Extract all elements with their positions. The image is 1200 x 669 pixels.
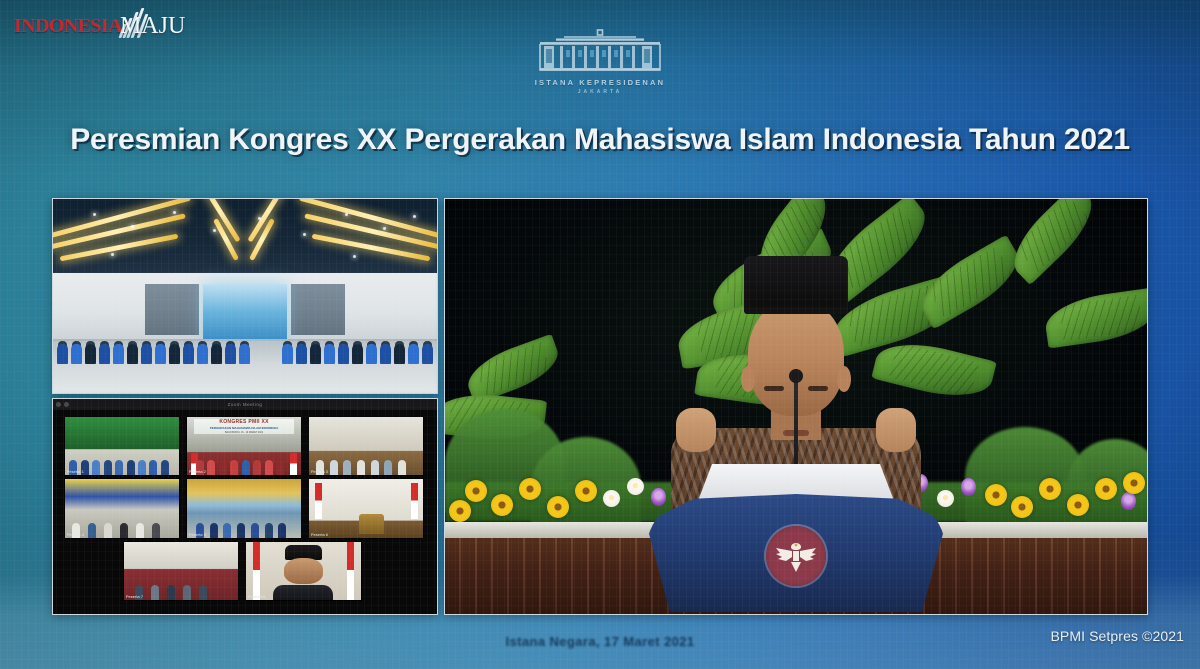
tile-label: Peserta 7 [126, 594, 143, 599]
banner-line-2: PERGERAKAN MAHASISWA ISLAM INDONESIA [210, 426, 278, 430]
tile-label: Peserta 6 [311, 532, 328, 537]
broadcast-backdrop: INDONESIA MAJU [0, 0, 1200, 669]
hall-audience [53, 321, 437, 364]
emblem-subtitle: JAKARTA [578, 89, 623, 95]
panel-speaker [444, 198, 1148, 615]
peci-cap-icon [744, 256, 848, 314]
tile-label: Peserta 8 [248, 594, 265, 599]
video-tile[interactable]: KONGRES PMII XX PERGERAKAN MAHASISWA ISL… [186, 416, 303, 476]
garuda-pancasila-icon [766, 526, 826, 586]
window-titlebar[interactable]: Zoom Meeting [53, 399, 437, 410]
broadcast-credit: BPMI Setpres ©2021 [1050, 628, 1184, 644]
presidential-palace-icon [534, 28, 666, 74]
left-hand [676, 408, 716, 452]
video-tile[interactable]: Peserta 5 [186, 478, 303, 538]
tile-label: Peserta 2 [189, 469, 206, 474]
speaker-scene [445, 199, 1147, 614]
video-tile[interactable]: Peserta 8 [245, 541, 362, 601]
video-tile[interactable]: Peserta 4 [64, 478, 181, 538]
banner-line-1: KONGRES PMII XX [219, 419, 269, 425]
event-caption: Istana Negara, 17 Maret 2021 [0, 634, 1200, 649]
lectern [646, 464, 946, 614]
tile-label: Peserta 1 [67, 469, 84, 474]
panel-video-grid[interactable]: Zoom Meeting Pese [52, 398, 438, 615]
video-tile[interactable]: Peserta 6 [308, 478, 425, 538]
video-call-window: Zoom Meeting Pese [53, 399, 437, 614]
tile-label: Peserta 3 [311, 469, 328, 474]
auditorium-scene [53, 199, 437, 393]
video-tile[interactable]: Peserta 3 [308, 416, 425, 476]
participant-tiles: Peserta 1 KONGRES PMII XX PERGERAKAN MAH… [60, 412, 430, 607]
congress-banner: KONGRES PMII XX PERGERAKAN MAHASISWA ISL… [194, 419, 295, 434]
palace-emblem: ISTANA KEPRESIDENAN JAKARTA [0, 28, 1200, 95]
tile-label: Peserta 5 [189, 532, 206, 537]
ceiling [53, 199, 437, 280]
window-title: Zoom Meeting [228, 402, 263, 407]
video-tile[interactable]: Peserta 1 [64, 416, 181, 476]
podium-figure [359, 514, 384, 534]
panel-auditorium [52, 198, 438, 394]
video-tile[interactable]: Peserta 7 [123, 541, 240, 601]
emblem-title: ISTANA KEPRESIDENAN [535, 78, 666, 87]
banner-line-3: BALIKPAPAN, 16 - 19 MARET 2021 [225, 431, 263, 434]
tile-label: Peserta 4 [67, 532, 84, 537]
right-hand [876, 408, 916, 452]
page-title: Peresmian Kongres XX Pergerakan Mahasisw… [0, 123, 1200, 157]
window-controls-icon[interactable] [56, 402, 69, 407]
